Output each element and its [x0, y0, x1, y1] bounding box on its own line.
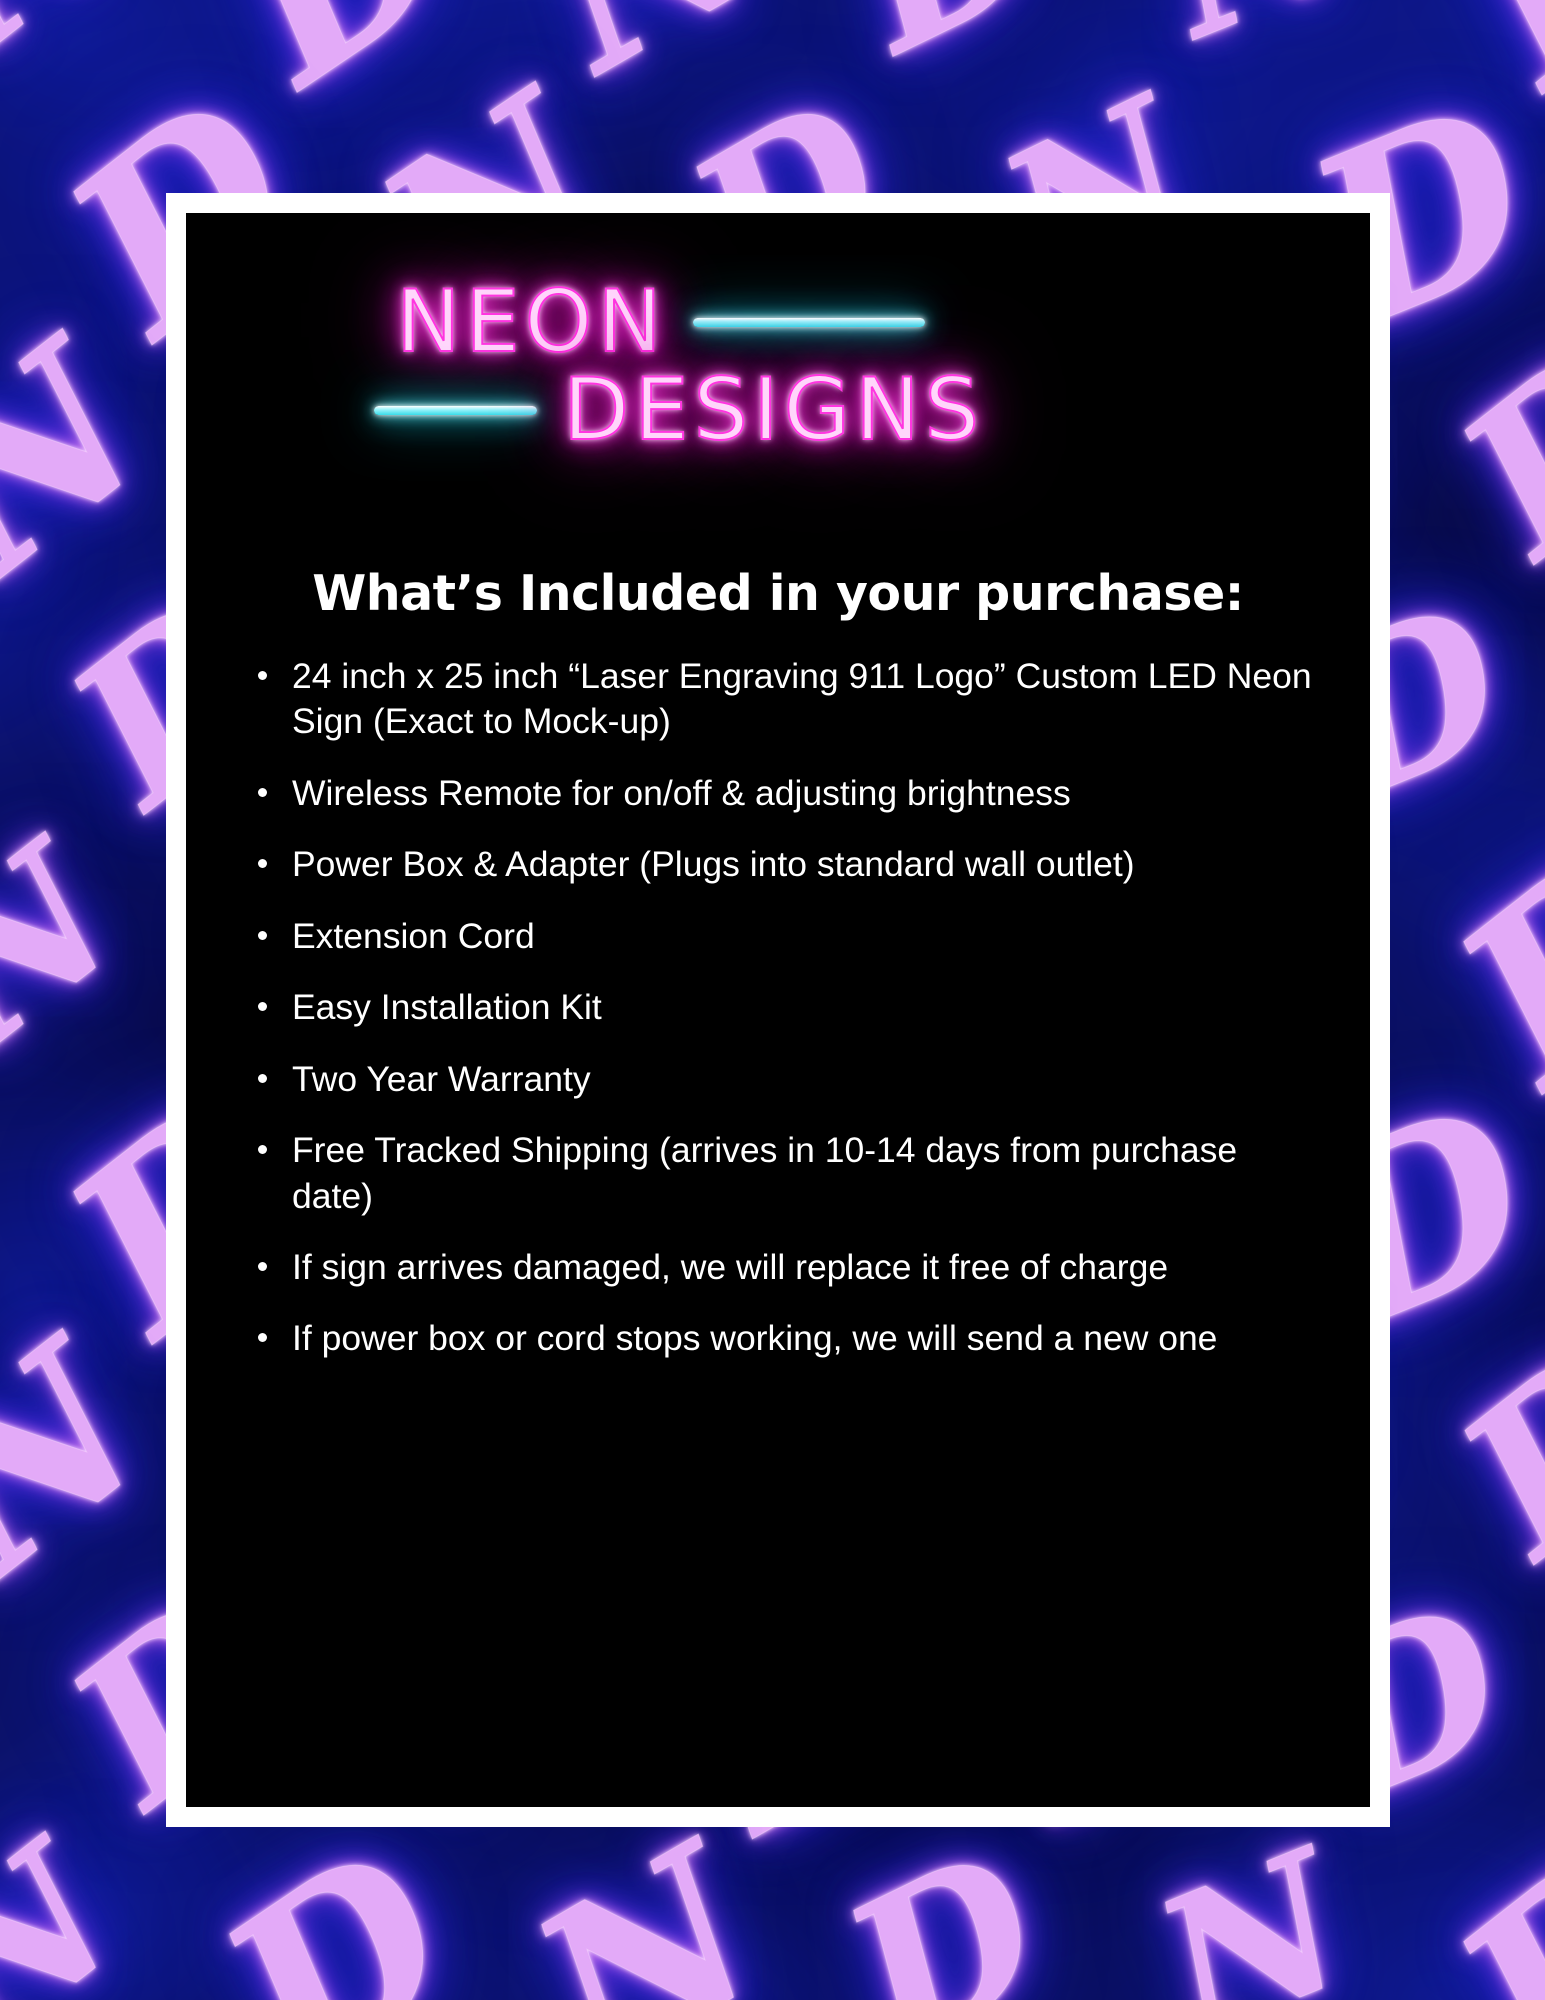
logo-row-top: NEON [396, 279, 925, 365]
bullet-dot-icon [258, 1262, 267, 1271]
bullet-dot-icon [258, 1145, 267, 1154]
list-item-label: If sign arrives damaged, we will replace… [292, 1247, 1168, 1287]
poster-root: NDNDNDDNDNDNNDNDNDDNDNDNNDNDNDDNDNDNNDND… [0, 0, 1545, 2000]
list-item: Free Tracked Shipping (arrives in 10-14 … [250, 1128, 1312, 1219]
list-item-label: If power box or cord stops working, we w… [292, 1318, 1217, 1358]
bullet-dot-icon [258, 1074, 267, 1083]
list-item-label: Easy Installation Kit [292, 987, 602, 1027]
bullet-dot-icon [258, 788, 267, 797]
list-item: Power Box & Adapter (Plugs into standard… [250, 842, 1312, 887]
logo-word-neon: NEON [396, 279, 667, 365]
list-item-label: Free Tracked Shipping (arrives in 10-14 … [292, 1130, 1237, 1215]
list-item-label: 24 inch x 25 inch “Laser Engraving 911 L… [292, 656, 1312, 741]
bullet-dot-icon [258, 1002, 267, 1011]
cyan-bar-bottom-icon [374, 406, 537, 415]
list-item-label: Two Year Warranty [292, 1059, 591, 1099]
list-item: Easy Installation Kit [250, 985, 1312, 1030]
included-items-list: 24 inch x 25 inch “Laser Engraving 911 L… [186, 654, 1370, 1362]
bullet-dot-icon [258, 931, 267, 940]
bullet-dot-icon [258, 671, 267, 680]
logo-row-bottom: DESIGNS [374, 367, 984, 453]
list-item: Wireless Remote for on/off & adjusting b… [250, 771, 1312, 816]
list-item-label: Wireless Remote for on/off & adjusting b… [292, 773, 1071, 813]
list-item: Extension Cord [250, 914, 1312, 959]
neon-designs-logo: NEON DESIGNS [186, 261, 1370, 531]
cyan-bar-top-icon [693, 318, 925, 327]
black-card: NEON DESIGNS What’s Included in your pur… [186, 213, 1370, 1807]
list-item-label: Power Box & Adapter (Plugs into standard… [292, 844, 1135, 884]
list-item: If sign arrives damaged, we will replace… [250, 1245, 1312, 1290]
list-item: Two Year Warranty [250, 1057, 1312, 1102]
list-item-label: Extension Cord [292, 916, 535, 956]
list-item: 24 inch x 25 inch “Laser Engraving 911 L… [250, 654, 1312, 745]
list-item: If power box or cord stops working, we w… [250, 1316, 1312, 1361]
page-title: What’s Included in your purchase: [186, 565, 1370, 622]
logo-word-designs: DESIGNS [563, 367, 984, 453]
bullet-dot-icon [258, 859, 267, 868]
white-card-frame: NEON DESIGNS What’s Included in your pur… [166, 193, 1390, 1827]
bullet-dot-icon [258, 1333, 267, 1342]
